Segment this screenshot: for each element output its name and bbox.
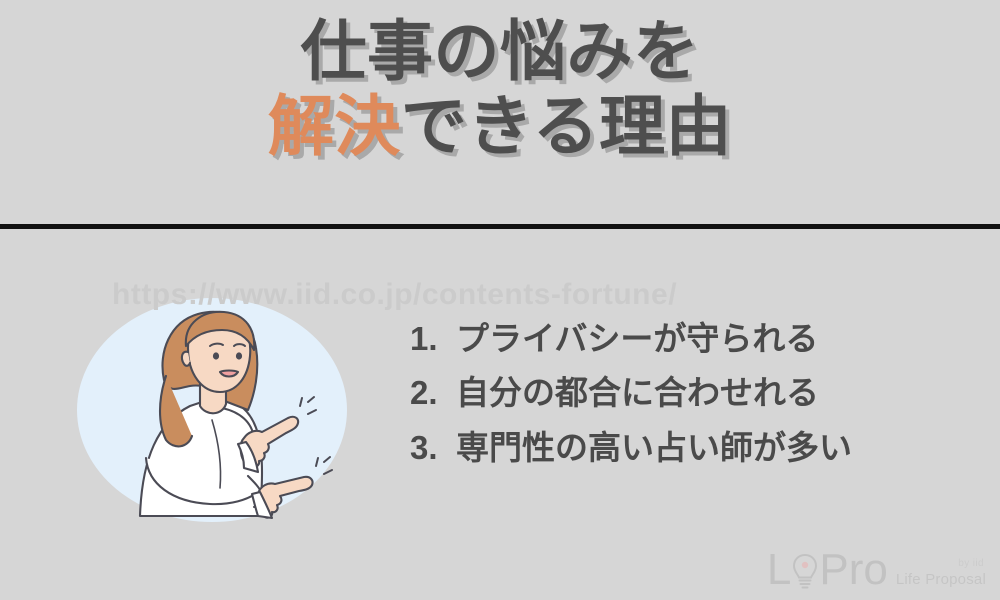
illustration-woman-pointing — [62, 288, 362, 533]
title-block: 仕事の悩みを 解決できる理由 — [0, 0, 1000, 224]
list-item-number: 3. — [410, 421, 456, 475]
list-item: 2. 自分の都合に合わせれる — [410, 366, 970, 420]
logo-byline: by iid — [958, 558, 984, 569]
logo-tagline: Life Proposal — [896, 571, 986, 588]
logo-word-pro: Pro — [819, 548, 887, 592]
list-item: 1. プライバシーが守られる — [410, 312, 970, 366]
page-title-line-2-rest: できる理由 — [401, 89, 732, 163]
list-item: 3. 専門性の高い占い師が多い — [410, 421, 970, 475]
list-item-label: 専門性の高い占い師が多い — [456, 421, 852, 475]
lipro-logo: L Pro by iid Life Proposal — [767, 548, 986, 592]
header-divider — [0, 224, 1000, 229]
logo-letter-l: L — [767, 548, 791, 592]
page-title-accent: 解決 — [268, 89, 401, 163]
list-item-number: 1. — [410, 312, 456, 366]
page-title-line-1: 仕事の悩みを — [301, 16, 700, 87]
logo-tagline-block: by iid Life Proposal — [896, 558, 986, 588]
reasons-list: 1. プライバシーが守られる 2. 自分の都合に合わせれる 3. 専門性の高い占… — [410, 312, 970, 475]
slide-root: 仕事の悩みを 解決できる理由 https://www.iid.co.jp/con… — [0, 0, 1000, 600]
list-item-label: プライバシーが守られる — [456, 312, 818, 366]
logo-wordmark: L Pro — [767, 548, 888, 592]
watermark-url: https://www.iid.co.jp/contents-fortune/ — [112, 278, 902, 312]
lightbulb-icon — [792, 548, 818, 592]
list-item-number: 2. — [410, 366, 456, 420]
list-item-label: 自分の都合に合わせれる — [456, 366, 819, 420]
page-title-line-2: 解決できる理由 — [268, 91, 732, 162]
